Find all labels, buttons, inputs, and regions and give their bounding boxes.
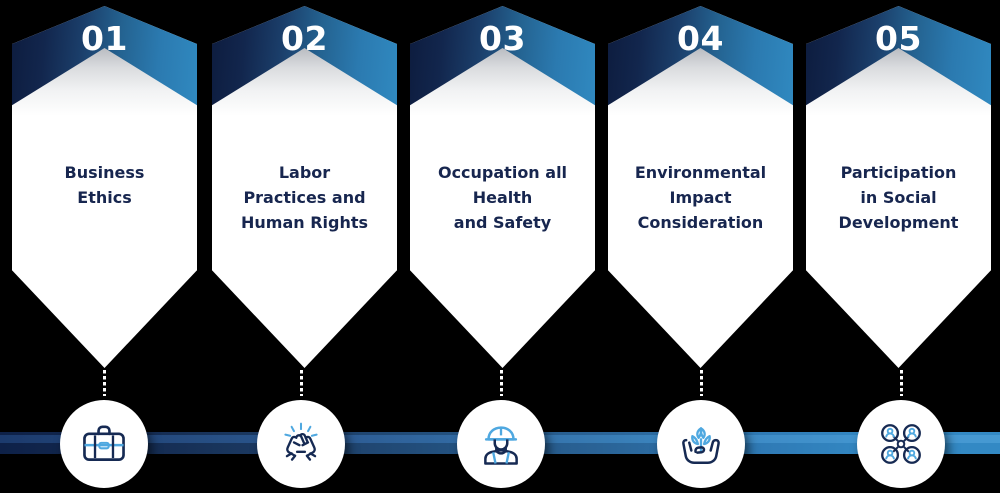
step-card-02[interactable]: 02Labor Practices and Human Rights bbox=[212, 6, 397, 368]
handshake-icon bbox=[276, 419, 326, 469]
step-number: 03 bbox=[410, 22, 595, 55]
step-card-03[interactable]: 03Occupation all Health and Safety bbox=[410, 6, 595, 368]
step-card-body: 02Labor Practices and Human Rights bbox=[212, 6, 397, 368]
step-card-body: 01Business Ethics bbox=[12, 6, 197, 368]
step-connector-line bbox=[700, 370, 703, 396]
step-card-05[interactable]: 05Participation in Social Development bbox=[806, 6, 991, 368]
step-card-04[interactable]: 04Environmental Impact Consideration bbox=[608, 6, 793, 368]
step-icon-node[interactable] bbox=[457, 400, 545, 488]
step-connector-line bbox=[300, 370, 303, 396]
construction-worker-icon bbox=[476, 419, 526, 469]
infographic-canvas: 01Business Ethics02Labor Practices and H… bbox=[0, 0, 1000, 493]
step-connector-line bbox=[900, 370, 903, 396]
step-number: 02 bbox=[212, 22, 397, 55]
step-number: 04 bbox=[608, 22, 793, 55]
step-card-body: 05Participation in Social Development bbox=[806, 6, 991, 368]
step-icon-node[interactable] bbox=[657, 400, 745, 488]
step-icon-node[interactable] bbox=[60, 400, 148, 488]
step-card-body: 04Environmental Impact Consideration bbox=[608, 6, 793, 368]
people-network-icon bbox=[876, 419, 926, 469]
step-connector-line bbox=[103, 370, 106, 396]
step-icon-node[interactable] bbox=[257, 400, 345, 488]
briefcase-icon bbox=[79, 419, 129, 469]
step-label: Labor Practices and Human Rights bbox=[220, 161, 389, 235]
step-connector-line bbox=[500, 370, 503, 396]
step-number: 01 bbox=[12, 22, 197, 55]
step-label: Business Ethics bbox=[20, 161, 189, 211]
step-label: Participation in Social Development bbox=[814, 161, 983, 235]
hands-plant-icon bbox=[676, 419, 726, 469]
step-number: 05 bbox=[806, 22, 991, 55]
step-card-body: 03Occupation all Health and Safety bbox=[410, 6, 595, 368]
step-icon-node[interactable] bbox=[857, 400, 945, 488]
step-label: Occupation all Health and Safety bbox=[418, 161, 587, 235]
step-card-01[interactable]: 01Business Ethics bbox=[12, 6, 197, 368]
step-label: Environmental Impact Consideration bbox=[616, 161, 785, 235]
